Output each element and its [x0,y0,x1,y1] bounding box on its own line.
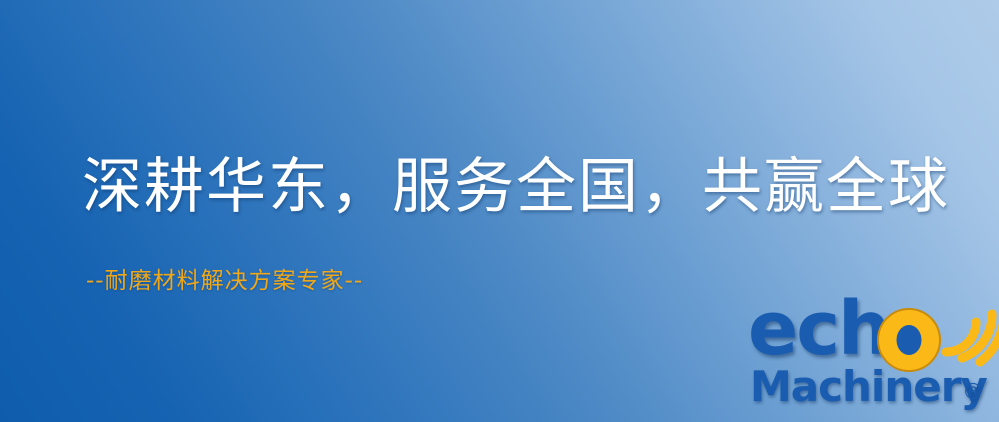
promo-banner: 深耕华东，服务全国，共赢全球 --耐磨材料解决方案专家-- ech Machin… [0,0,999,422]
banner-subtitle: --耐磨材料解决方案专家-- [86,266,363,296]
banner-headline: 深耕华东，服务全国，共赢全球 [82,152,950,222]
echo-signal-arc-icon [930,290,999,368]
echo-machinery-logo[interactable]: ech Machinery ® [744,296,999,422]
logo-wordmark-ech: ech [748,292,889,366]
logo-subword-machinery: Machinery [750,366,987,408]
registered-trademark-mark: ® [962,382,984,404]
